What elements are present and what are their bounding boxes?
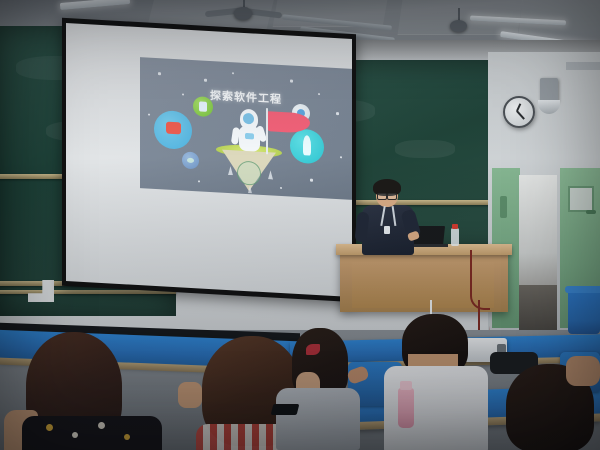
trash-bin [568,290,600,334]
presenter [360,182,416,254]
orb-icon-leaf [187,158,194,163]
door-latch[interactable] [500,196,507,218]
star-icon [232,72,234,74]
astronaut-visor [243,113,254,125]
star-icon [310,179,313,182]
pink-bottle-cap [400,381,412,390]
hair-bow [306,344,320,355]
audience-torso-floral [22,416,162,450]
chalk-smudge [395,140,455,158]
audience-torso-gray [276,388,360,450]
projector-bracket [566,62,600,70]
water-bottle [451,228,459,246]
orb-icon-toolbox [166,122,181,135]
fluorescent-tube [60,0,130,10]
corridor-beyond-door [519,285,557,333]
fabric-pattern [46,424,53,431]
door-window [568,186,594,212]
star-icon [204,79,207,82]
star-icon [280,187,282,189]
fabric-pattern [124,434,130,440]
wall-clock [503,96,535,128]
star-icon [198,180,200,182]
orb-icon-rocket [303,135,311,155]
island-emblem [237,160,261,185]
slide-projection: 探索软件工程 [140,57,352,200]
camera-mount [540,78,558,102]
glasses-icon [377,193,387,200]
door-handle[interactable] [586,210,596,214]
orb-blue-large [154,110,192,150]
phone-on-desk[interactable] [271,404,300,415]
fabric-pattern [72,432,78,438]
orb-green [193,96,213,117]
ceiling-fan-hub [450,20,467,32]
star-icon [290,79,293,82]
orb-small-blue [182,151,199,169]
orb-icon-book [199,101,207,111]
glasses-icon [387,193,397,200]
astronaut-chest-panel [245,133,254,140]
id-badge [384,226,390,234]
ceiling-fan-hub [234,7,252,20]
pink-water-bottle [398,388,414,428]
star-icon [340,156,342,158]
person-arm [566,356,600,386]
trash-bin-lid [565,286,600,293]
clock-minute-hand [516,110,524,119]
person-hand [178,382,202,408]
star-icon [158,72,161,75]
classroom-photo: 探索软件工程 [0,0,600,450]
orb-cyan [290,128,324,164]
star-icon [336,112,339,115]
star-icon [148,114,150,116]
slide-title: 探索软件工程 [140,83,352,111]
fabric-pattern [98,422,105,429]
bottle-cap [452,224,458,229]
